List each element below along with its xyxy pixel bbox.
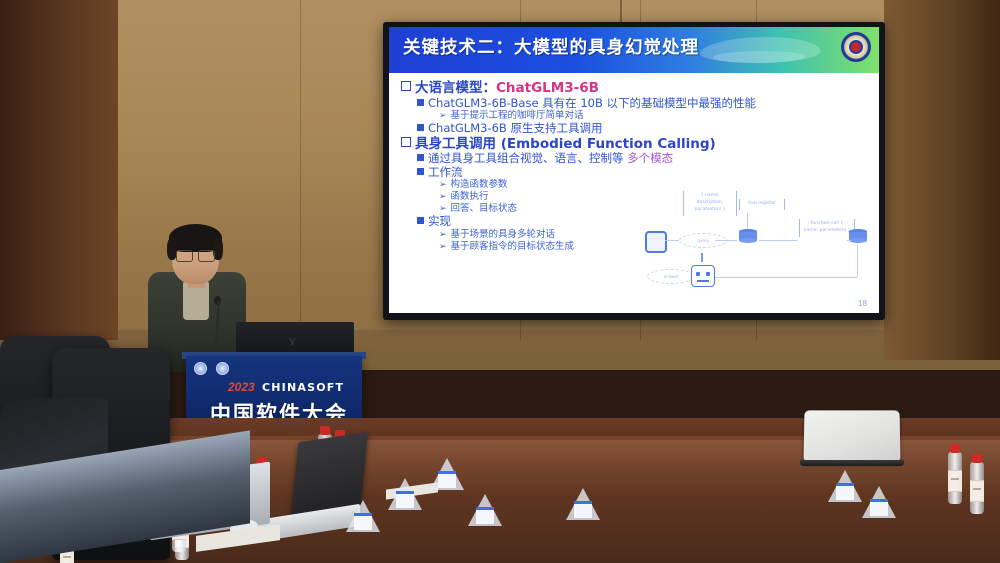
arrow-icon: ➢ xyxy=(439,243,447,252)
institution-emblem-icon xyxy=(841,32,871,62)
conference-room-photo: 关键技术二：大模型的具身幻觉处理 大语言模型：ChatGLM3-6B ChatG… xyxy=(0,0,1000,563)
hollow-square-icon xyxy=(401,137,411,147)
filled-square-icon xyxy=(417,217,424,224)
slide-title: 关键技术二：大模型的具身幻觉处理 xyxy=(403,34,699,59)
podium-english-title: CHINASOFT xyxy=(262,381,344,394)
acrylic-name-card-holder xyxy=(566,488,600,522)
tool-register-box: tool register xyxy=(739,199,785,210)
acrylic-name-card-holder xyxy=(430,458,464,492)
bullet-l2-native-tool: ChatGLM3-6B 原生支持工具调用 xyxy=(417,123,871,135)
acrylic-name-card-holder xyxy=(828,470,862,504)
bullet-l2-workflow: 工作流 xyxy=(417,167,871,179)
slide-architecture-diagram: { name, description, parameters } tool r… xyxy=(643,191,873,299)
hollow-square-icon xyxy=(401,81,411,91)
database-icon-2 xyxy=(849,229,867,244)
podium-logos xyxy=(194,362,229,375)
arrow-icon: ➢ xyxy=(439,112,447,121)
acrylic-name-card-holder xyxy=(346,500,380,534)
arrow-icon: ➢ xyxy=(439,231,447,240)
org-emblem-right xyxy=(216,362,229,375)
wall-left-dark-panel xyxy=(0,0,118,340)
slide: 关键技术二：大模型的具身幻觉处理 大语言模型：ChatGLM3-6B ChatG… xyxy=(389,27,879,313)
tool-schema-box: { name, description, parameters } xyxy=(683,191,737,216)
macbook-laptop xyxy=(804,410,900,466)
presentation-display: 关键技术二：大模型的具身幻觉处理 大语言模型：ChatGLM3-6B ChatG… xyxy=(389,27,879,313)
filled-square-icon xyxy=(417,124,424,131)
filled-square-icon xyxy=(417,154,424,161)
apple-logo-icon xyxy=(846,430,858,443)
acrylic-name-card-holder xyxy=(468,494,502,528)
user-face-icon xyxy=(645,231,667,253)
slide-title-bar: 关键技术二：大模型的具身幻觉处理 xyxy=(389,27,879,73)
bullet-l1-embodied-fc: 具身工具调用 (Embodied Function Calling) xyxy=(401,137,871,152)
water-bottle xyxy=(970,462,984,514)
filled-square-icon xyxy=(417,168,424,175)
slide-swoosh-decor-2 xyxy=(711,51,808,63)
podium-year: 2023 xyxy=(228,380,255,394)
database-icon xyxy=(739,229,757,244)
filled-square-icon xyxy=(417,99,424,106)
acrylic-name-card-holder xyxy=(862,486,896,520)
bullet-l2-base-perf: ChatGLM3-6B-Base 具有在 10B 以下的基础模型中最强的性能 xyxy=(417,98,871,110)
acrylic-name-card-holder xyxy=(388,478,422,512)
arrow-icon: ➢ xyxy=(439,181,447,190)
arrow-icon: ➢ xyxy=(439,193,447,202)
wall-right-dark-panel xyxy=(884,0,1000,360)
bullet-l3-build-params: ➢构造函数参数 xyxy=(439,180,871,190)
org-emblem-left xyxy=(194,362,207,375)
bullet-l2-multimodal: 通过具身工具组合视觉、语言、控制等 多个模态 xyxy=(417,153,871,165)
arrow-icon: ➢ xyxy=(439,205,447,214)
function-call-box: function call { name, parameters } xyxy=(799,219,855,237)
bullet-l3-prompt-cafe: ➢基于提示工程的咖啡厅简单对话 xyxy=(439,111,871,121)
eyeglasses-icon xyxy=(176,250,193,262)
bullet-l1-llm: 大语言模型：ChatGLM3-6B xyxy=(401,81,871,96)
robot-icon xyxy=(691,265,715,287)
water-bottle xyxy=(948,452,962,504)
slide-page-number: 18 xyxy=(858,299,867,308)
answer-cloud: answer xyxy=(647,269,695,284)
